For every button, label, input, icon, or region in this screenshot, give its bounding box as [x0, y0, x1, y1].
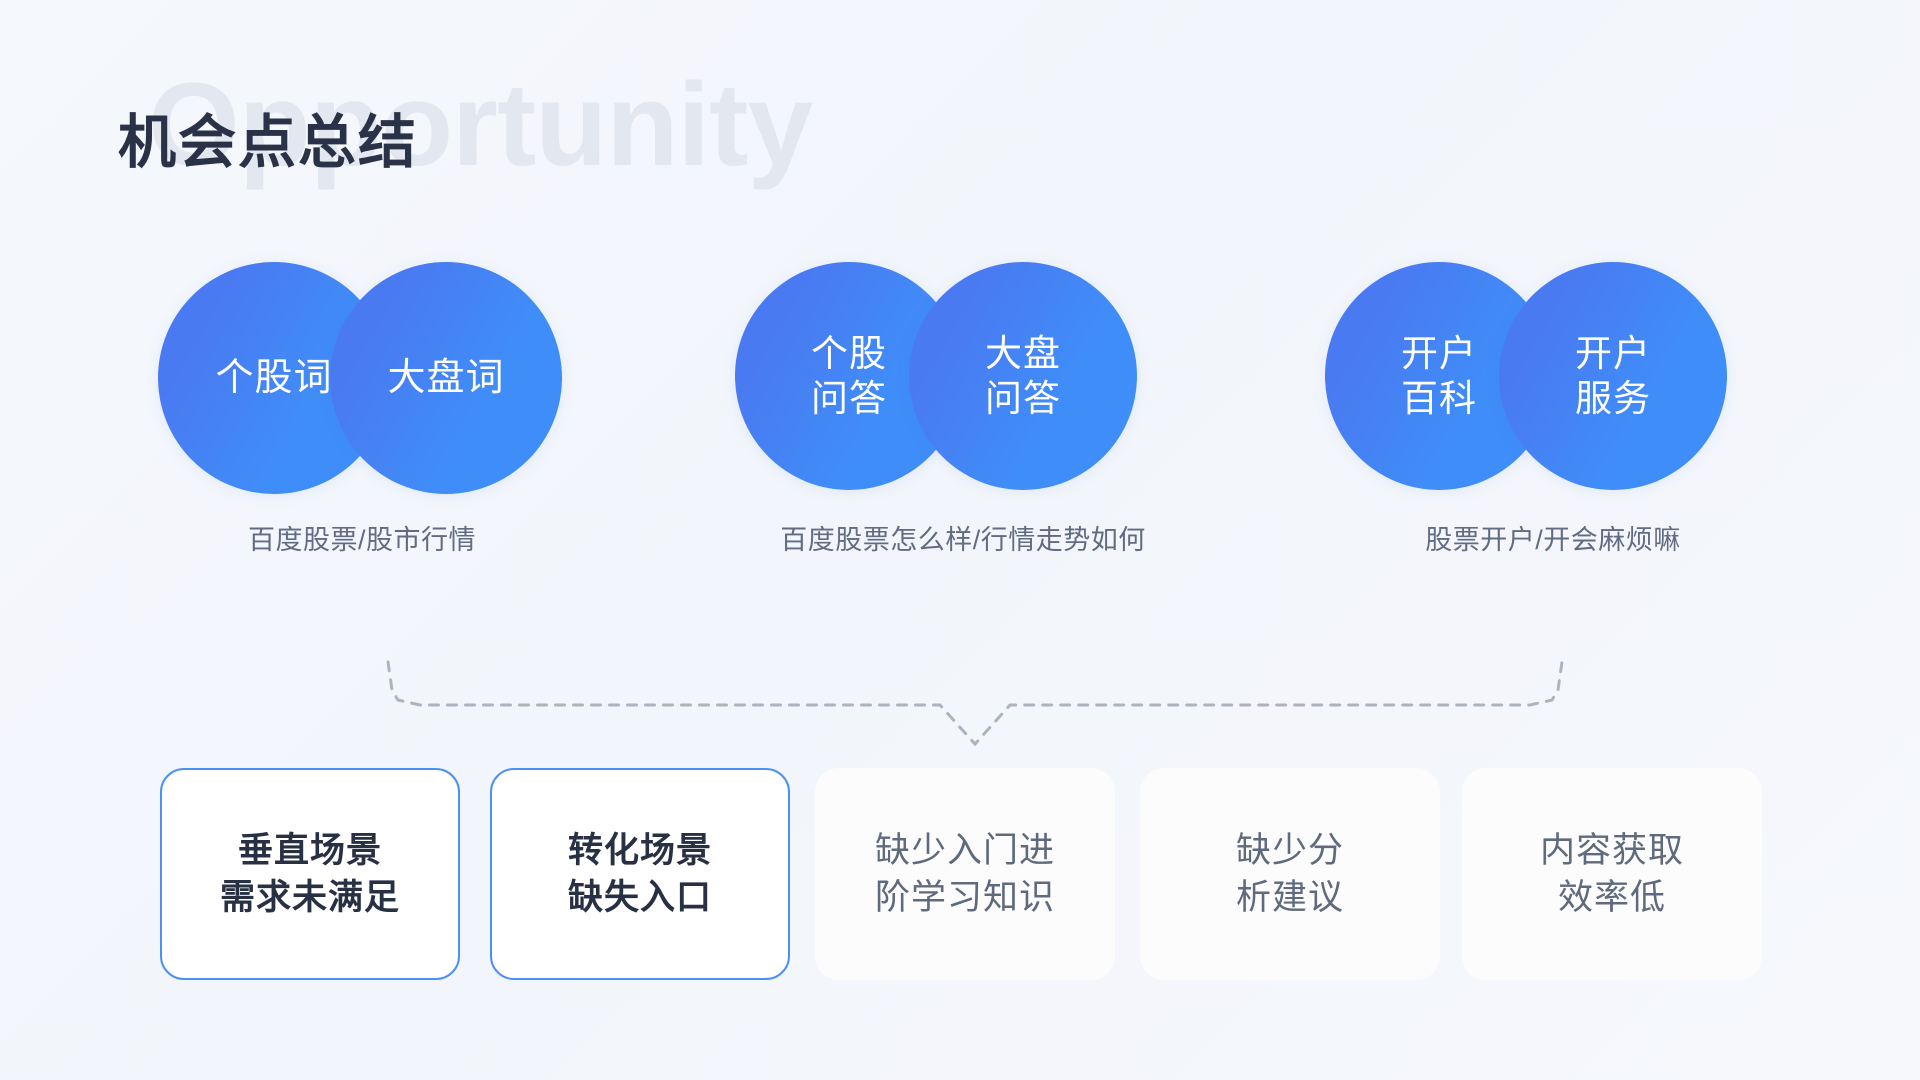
circle-group-2: 个股 问答 大盘 问答 百度股票怎么样/行情走势如何: [735, 262, 1191, 592]
summary-box-2[interactable]: 转化场景 缺失入口: [490, 768, 790, 980]
dashed-connector: [0, 632, 1920, 762]
circle-group-1: 个股词 大盘词 百度股票/股市行情: [158, 262, 566, 592]
circle-group-3-caption: 股票开户/开会麻烦嘛: [1325, 518, 1781, 557]
summary-box-1[interactable]: 垂直场景 需求未满足: [160, 768, 460, 980]
circle-group-3-right[interactable]: 开户 服务: [1499, 262, 1727, 490]
circle-pair: 开户 百科 开户 服务: [1325, 262, 1781, 498]
circle-group-1-caption: 百度股票/股市行情: [158, 518, 566, 557]
summary-box-3[interactable]: 缺少入门进 阶学习知识: [815, 768, 1115, 980]
summary-box-5[interactable]: 内容获取 效率低: [1462, 768, 1762, 980]
circle-group-3: 开户 百科 开户 服务 股票开户/开会麻烦嘛: [1325, 262, 1781, 592]
page-title: 机会点总结: [118, 114, 418, 172]
circle-group-2-right[interactable]: 大盘 问答: [909, 262, 1137, 490]
summary-box-4[interactable]: 缺少分 析建议: [1140, 768, 1440, 980]
circle-pair: 个股词 大盘词: [158, 262, 566, 498]
circle-pair: 个股 问答 大盘 问答: [735, 262, 1191, 498]
circle-group-2-caption: 百度股票怎么样/行情走势如何: [735, 518, 1191, 557]
summary-boxes: 垂直场景 需求未满足 转化场景 缺失入口 缺少入门进 阶学习知识 缺少分 析建议…: [0, 768, 1920, 990]
circle-group-1-right[interactable]: 大盘词: [330, 262, 562, 494]
dashed-bracket-icon: [0, 632, 1920, 762]
circle-groups: 个股词 大盘词 百度股票/股市行情 个股 问答 大盘 问答 百度股票怎么样/行情…: [0, 262, 1920, 592]
